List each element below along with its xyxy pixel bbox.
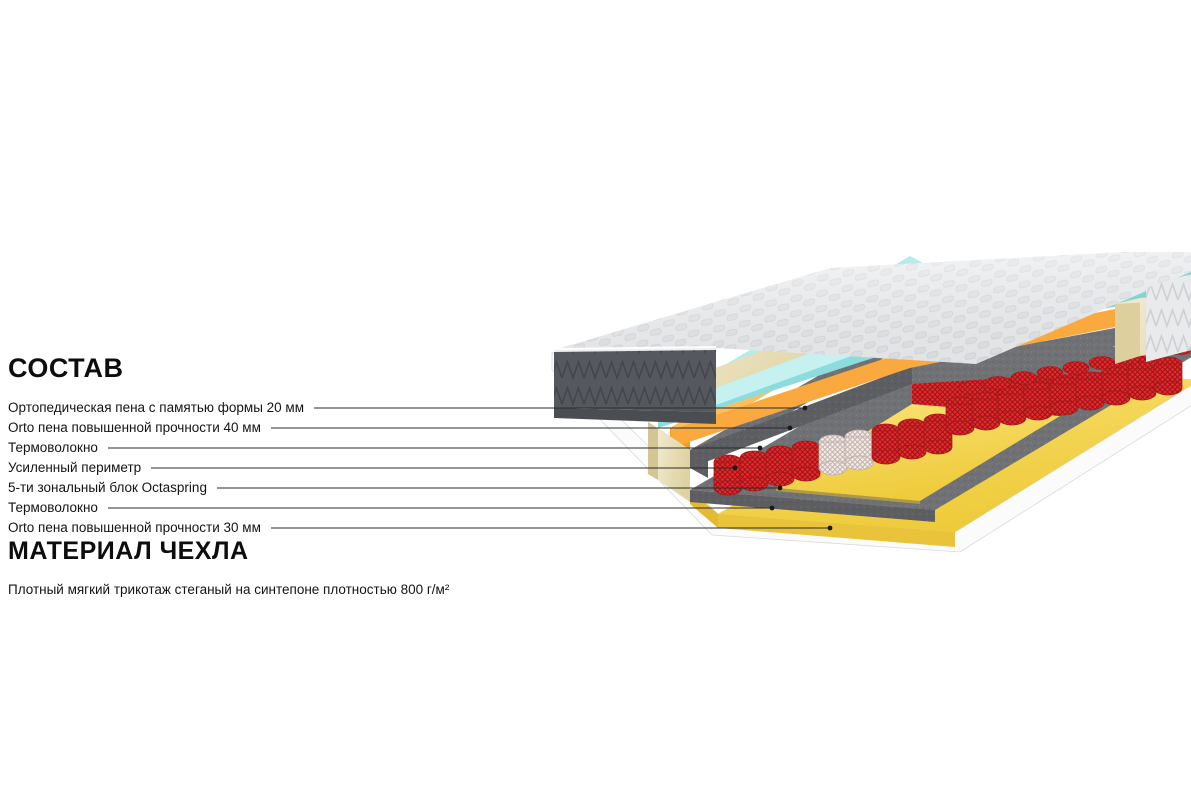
cover-material-description: Плотный мягкий трикотаж стеганый на синт…: [8, 581, 449, 599]
composition-layer-row: Ортопедическая пена с памятью формы 20 м…: [8, 398, 304, 418]
composition-layer-label: 5-ти зональный блок Octaspring: [8, 480, 207, 496]
composition-layer-label: Термоволокно: [8, 500, 98, 516]
composition-layer-row: 5-ти зональный блок Octaspring: [8, 478, 207, 498]
cover-side-panel-right-light: [1176, 272, 1191, 354]
composition-layer-label: Усиленный периметр: [8, 460, 141, 476]
cover-material-heading: МАТЕРИАЛ ЧЕХЛА: [8, 536, 249, 566]
composition-layer-row: Orto пена повышенной прочности 40 мм: [8, 418, 261, 438]
page-root: СОСТАВ МАТЕРИАЛ ЧЕХЛА Плотный мягкий три…: [0, 0, 1191, 794]
composition-layer-label: Термоволокно: [8, 440, 98, 456]
composition-layer-row: Orto пена повышенной прочности 30 мм: [8, 518, 261, 538]
composition-layer-label: Ортопедическая пена с памятью формы 20 м…: [8, 400, 304, 416]
composition-layer-label: Orto пена повышенной прочности 40 мм: [8, 420, 261, 436]
composition-layer-row: Усиленный периметр: [8, 458, 141, 478]
composition-layer-row: Термоволокно: [8, 438, 98, 458]
reinforced-perimeter-right-inner: [1115, 298, 1140, 364]
mattress-cutaway-illustration: [540, 252, 1191, 552]
composition-heading: СОСТАВ: [8, 353, 123, 383]
cover-side-panel-right-edge: [1146, 278, 1176, 362]
cover-side-panel-left-dark: [554, 348, 716, 412]
composition-layer-row: Термоволокно: [8, 498, 98, 518]
composition-layer-label: Orto пена повышенной прочности 30 мм: [8, 520, 261, 536]
reinforced-perimeter-left-side: [648, 422, 658, 480]
